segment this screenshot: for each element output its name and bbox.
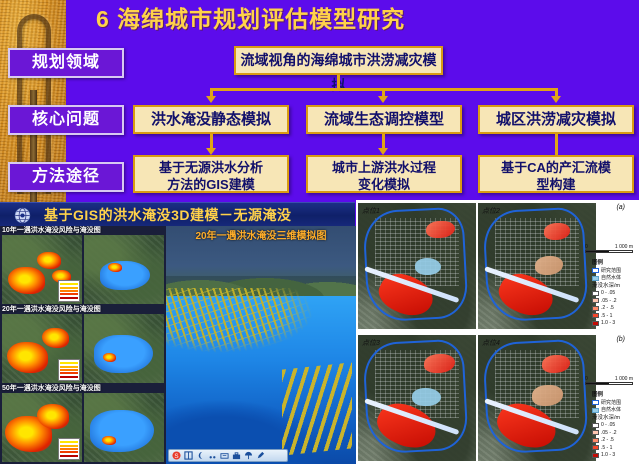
keyboard-icon[interactable]: [220, 451, 229, 460]
group-b-id: (b): [616, 336, 625, 343]
scalebar-a-bar: [585, 250, 633, 253]
swatch-depth-3: [592, 313, 599, 318]
legend-a-ramp-1-label: .05 - .2: [601, 298, 617, 305]
urban-map-b-right: 点位4: [478, 335, 596, 461]
globe-icon: [14, 207, 31, 224]
category-chip-planning-field: 规划领域: [8, 48, 124, 78]
scalebar-b-min: 0: [585, 376, 588, 382]
group-a-id: (a): [616, 204, 625, 211]
flow-box-upstream-process-line2: 变化模拟: [308, 176, 460, 193]
scalebar-a-min: 0: [585, 244, 588, 250]
legend-a-item-water: 自然水体: [592, 275, 635, 282]
flow-box-static-inundation: 洪水淹没静态模拟: [133, 105, 289, 134]
legend-b-ramp-1: .05 - .2: [592, 430, 635, 437]
urban-map-b-right-label: 点位4: [482, 338, 578, 348]
legend-a-ramp-1: .05 - .2: [592, 298, 635, 305]
legend-b: 图例 研究范围 自然水体 淹没水深/m 0 - .05 .05 - .2: [592, 392, 635, 460]
legend-a-item-study-area: 研究范围: [592, 268, 635, 275]
flow-root-box: 流域视角的海绵城市洪涝减灾模拟: [234, 46, 443, 75]
legend-b-item-water: 自然水体: [592, 407, 635, 414]
scalebar-a: 0 1 000 m: [585, 244, 633, 253]
risk-map-10yr: [2, 235, 82, 304]
legend-a-ramp-3: .5 - 1: [592, 313, 635, 320]
toolbox-icon[interactable]: [232, 451, 241, 460]
risk-zone: [37, 252, 61, 270]
page-title: 6 海绵城市规划评估模型研究: [96, 2, 596, 36]
map-row-10yr: 10年一遇洪水淹没风险与淹没图: [0, 226, 166, 305]
flood-3d-caption: 20年一遇洪水淹没三维模拟图: [166, 230, 356, 244]
legend-a-ramp-3-label: .5 - 1: [601, 313, 612, 320]
legend-a-ramp-4: 1.0 - 3: [592, 320, 635, 327]
pen-icon[interactable]: [256, 451, 265, 460]
legend-b-ramp-4: 1.0 - 3: [592, 452, 635, 459]
section-banner-text: 基于GIS的洪水淹没3D建模－无源淹没: [44, 203, 292, 227]
legend-b-title: 图例: [592, 392, 635, 399]
flood-extent-shallow: [532, 385, 563, 405]
flood-extent: [544, 223, 570, 239]
umbrella-icon[interactable]: [244, 451, 253, 460]
ime-language-bar[interactable]: S: [168, 449, 288, 462]
scalebar-b-bar: [585, 382, 633, 385]
urban-map-group-a: 点位1 点位2 (a) 0 1 000 m 图例: [356, 200, 639, 332]
legend-b-ramp-4-label: 1.0 - 3: [601, 452, 615, 459]
section-banner: 基于GIS的洪水淹没3D建模－无源淹没: [0, 202, 355, 226]
map-legend-swatches: [58, 438, 80, 460]
flow-box-ca-runoff: 基于CA的产汇流模 型构建: [478, 155, 634, 193]
risk-zone: [103, 353, 116, 362]
map-row-10yr-caption: 10年一遇洪水淹没风险与淹没图: [2, 226, 101, 236]
legend-a: 图例 研究范围 自然水体 淹没水深/m 0 - .05 .05 - .2: [592, 260, 635, 328]
scalebar-b-max: 1 000 m: [615, 376, 633, 382]
swatch-depth-1: [592, 430, 599, 435]
flow-box-eco-regulation: 流域生态调控模型: [306, 105, 462, 134]
legend-b-ramp-3-label: .5 - 1: [601, 445, 612, 452]
arrow-head-mid: [378, 96, 388, 103]
legend-a-ramp-0-label: 0 - .05: [601, 290, 615, 297]
swatch-depth-0: [592, 291, 599, 296]
connector-root-down: [337, 75, 340, 88]
natural-waterbody: [415, 258, 441, 274]
flow-box-upstream-process-line1: 城市上游洪水过程: [308, 159, 460, 176]
urban-map-b-left: 点位3: [358, 335, 476, 461]
map-row-50yr: 50年一遇洪水淹没风险与淹没图: [0, 384, 166, 463]
flow-box-ca-runoff-line1: 基于CA的产汇流模: [480, 159, 632, 176]
natural-waterbody: [412, 388, 440, 406]
swatch-study-area: [592, 400, 599, 405]
risk-map-20yr: [2, 314, 82, 383]
risk-zone: [108, 263, 122, 273]
legend-b-ramp-1-label: .05 - .2: [601, 430, 617, 437]
legend-b-item-water-label: 自然水体: [601, 407, 621, 414]
category-chip-method-approach: 方法途径: [8, 162, 124, 192]
swatch-water: [592, 408, 599, 413]
legend-a-ramp-2: .2 - .5: [592, 305, 635, 312]
flow-box-upstream-process: 城市上游洪水过程 变化模拟: [306, 155, 462, 193]
map-row-20yr: 20年一遇洪水淹没风险与淹没图: [0, 305, 166, 384]
swatch-depth-2: [592, 438, 599, 443]
scalebar-a-max: 1 000 m: [615, 244, 633, 250]
chinese-mode-icon[interactable]: [184, 451, 193, 460]
legend-a-ramp-2-label: .2 - .5: [601, 305, 614, 312]
legend-a-ramp-0: 0 - .05: [592, 290, 635, 297]
left-map-grid-panel: 10年一遇洪水淹没风险与淹没图 20年一遇洪水淹没风险与淹没图: [0, 226, 166, 464]
swatch-depth-4: [592, 321, 599, 326]
legend-a-item-water-label: 自然水体: [601, 275, 621, 282]
urban-flood-map-grid: 点位1 点位2 (a) 0 1 000 m 图例: [356, 200, 639, 464]
risk-zone: [37, 404, 69, 429]
legend-a-item-study-area-label: 研究范围: [601, 268, 621, 275]
legend-b-ramp-2-label: .2 - .5: [601, 437, 614, 444]
legend-b-item-study-area: 研究范围: [592, 400, 635, 407]
urban-map-b-left-label: 点位3: [362, 338, 458, 348]
urban-map-a-right-label: 点位2: [482, 206, 578, 216]
legend-b-ramp-2: .2 - .5: [592, 437, 635, 444]
flow-box-gis-modeling: 基于无源洪水分析 方法的GIS建模: [133, 155, 289, 193]
urban-map-a-left-label: 点位1: [362, 206, 458, 216]
map-row-20yr-caption: 20年一遇洪水淹没风险与淹没图: [2, 305, 101, 315]
flow-box-gis-modeling-line2: 方法的GIS建模: [135, 176, 287, 193]
swatch-depth-1: [592, 298, 599, 303]
arrow-head-down-1: [378, 148, 388, 155]
arrow-head-right: [551, 96, 561, 103]
swatch-depth-2: [592, 306, 599, 311]
legend-a-title: 图例: [592, 260, 635, 267]
arrow-head-down-0: [206, 148, 216, 155]
map-legend-swatches: [58, 359, 80, 381]
swatch-depth-3: [592, 445, 599, 450]
risk-map-50yr: [2, 393, 82, 462]
map-legend-swatches: [58, 280, 80, 302]
flood-3d-simulation-panel: 20年一遇洪水淹没三维模拟图 S: [166, 226, 356, 464]
swatch-study-area: [592, 268, 599, 273]
svg-text:S: S: [174, 453, 178, 460]
inundation-map-50yr: [84, 393, 164, 462]
moon-icon[interactable]: [196, 451, 205, 460]
swatch-depth-0: [592, 423, 599, 428]
urban-map-a-right: 点位2: [478, 203, 596, 329]
risk-zone: [8, 267, 45, 295]
map-row-50yr-caption: 50年一遇洪水淹没风险与淹没图: [2, 384, 101, 394]
urban-map-group-b: 点位3 点位4 (b) 0 1 000 m 图例: [356, 332, 639, 464]
presentation-slide: 6 海绵城市规划评估模型研究 规划领域 核心问题 方法途径 流域视角的海绵城市洪…: [0, 0, 639, 464]
legend-a-ramp-title: 淹没水深/m: [592, 283, 635, 290]
legend-b-ramp-0: 0 - .05: [592, 422, 635, 429]
pier-structures: [282, 362, 352, 455]
inundation-map-20yr: [84, 314, 164, 383]
s-logo-icon[interactable]: S: [172, 451, 181, 460]
legend-a-ramp-4-label: 1.0 - 3: [601, 320, 615, 327]
legend-b-item-study-area-label: 研究范围: [601, 400, 621, 407]
urban-map-a-left: 点位1: [358, 203, 476, 329]
legend-b-ramp-3: .5 - 1: [592, 445, 635, 452]
flow-box-gis-modeling-line1: 基于无源洪水分析: [135, 159, 287, 176]
punctuation-icon[interactable]: [208, 451, 217, 460]
legend-b-ramp-0-label: 0 - .05: [601, 422, 615, 429]
flow-box-ca-runoff-line2: 型构建: [480, 176, 632, 193]
inundation-map-10yr: [84, 235, 164, 304]
arrow-head-left: [206, 96, 216, 103]
scalebar-b: 0 1 000 m: [585, 376, 633, 385]
category-chip-core-problem: 核心问题: [8, 105, 124, 135]
swatch-water: [592, 276, 599, 281]
swatch-depth-4: [592, 453, 599, 458]
legend-b-ramp-title: 淹没水深/m: [592, 415, 635, 422]
flow-box-urban-flood: 城区洪涝减灾模拟: [478, 105, 634, 134]
